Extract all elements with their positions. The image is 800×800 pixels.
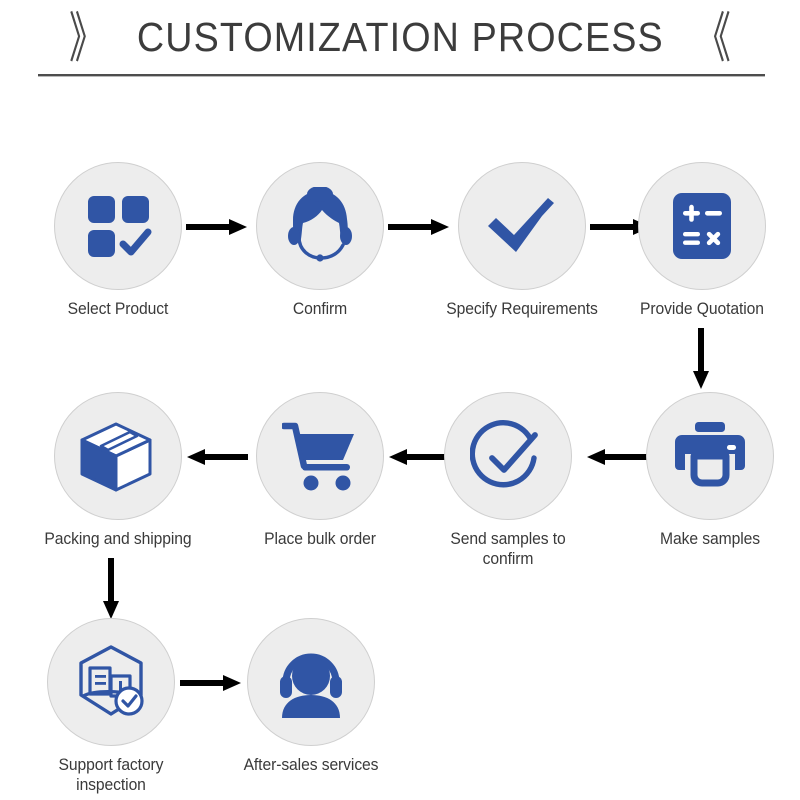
page-title: 》CUSTOMIZATION PROCESS《 — [0, 14, 800, 61]
step-label: After-sales services — [235, 755, 387, 775]
calculator-icon — [668, 190, 736, 262]
process-step-make-samples[interactable]: Make samples — [630, 392, 790, 549]
factory-inspection-shield-icon — [73, 644, 149, 720]
process-step-send-samples-to-confirm[interactable]: Send samples to confirm — [428, 392, 588, 569]
page-header: 》CUSTOMIZATION PROCESS《 — [0, 0, 800, 90]
page-title-text: CUSTOMIZATION PROCESS — [137, 14, 664, 61]
arrow-step2-to-step3 — [388, 218, 450, 236]
process-step-select-product[interactable]: Select Product — [38, 162, 198, 319]
step-label: Select Product — [42, 299, 194, 319]
step-icon-circle — [638, 162, 766, 290]
chevron-right-icon: 《 — [695, 10, 731, 64]
printer-icon — [672, 421, 748, 491]
step-icon-circle — [444, 392, 572, 520]
step-icon-circle — [646, 392, 774, 520]
step-icon-circle — [458, 162, 586, 290]
step-icon-circle — [47, 618, 175, 746]
process-step-support-factory-inspection[interactable]: Support factory inspection — [31, 618, 191, 795]
process-step-confirm[interactable]: Confirm — [240, 162, 400, 319]
step-label: Packing and shipping — [42, 529, 194, 549]
step-label: Make samples — [634, 529, 786, 549]
customization-process-infographic: 》CUSTOMIZATION PROCESS《 Select Product — [0, 0, 800, 800]
step-icon-circle — [247, 618, 375, 746]
headset-operator-icon — [281, 187, 359, 265]
arrow-step8-to-step9 — [102, 558, 120, 620]
step-label: Confirm — [244, 299, 396, 319]
process-step-place-bulk-order[interactable]: Place bulk order — [240, 392, 400, 549]
title-divider — [38, 74, 765, 77]
step-label: Send samples to confirm — [432, 529, 584, 569]
process-step-provide-quotation[interactable]: Provide Quotation — [622, 162, 782, 319]
step-label: Support factory inspection — [35, 755, 187, 795]
arrow-step7-to-step8 — [186, 448, 248, 466]
step-label: Specify Requirements — [446, 299, 598, 319]
step-icon-circle — [256, 392, 384, 520]
step-icon-circle — [256, 162, 384, 290]
package-box-icon — [78, 418, 158, 494]
checkmark-icon — [484, 188, 560, 264]
step-icon-circle — [54, 392, 182, 520]
arrow-step4-to-step5 — [692, 328, 710, 390]
process-step-after-sales-services[interactable]: After-sales services — [231, 618, 391, 775]
circle-check-icon — [470, 418, 546, 494]
step-label: Provide Quotation — [626, 299, 778, 319]
step-label: Place bulk order — [244, 529, 396, 549]
chevron-left-icon: 》 — [69, 10, 105, 64]
product-grid-check-icon — [82, 190, 154, 262]
arrow-step1-to-step2 — [186, 218, 248, 236]
process-step-packing-and-shipping[interactable]: Packing and shipping — [38, 392, 198, 549]
support-agent-icon — [273, 646, 349, 718]
shopping-cart-icon — [282, 420, 358, 492]
process-step-specify-requirements[interactable]: Specify Requirements — [442, 162, 602, 319]
process-flow: Select Product — [0, 90, 800, 800]
step-icon-circle — [54, 162, 182, 290]
